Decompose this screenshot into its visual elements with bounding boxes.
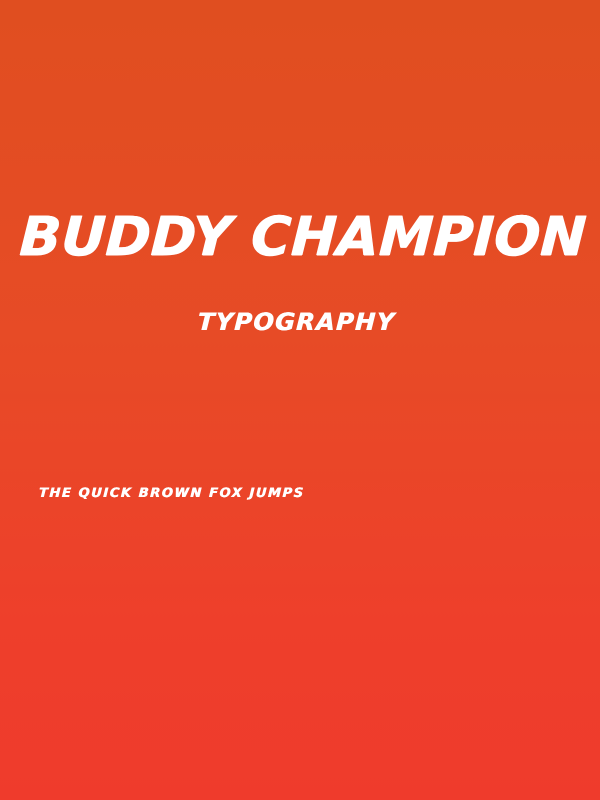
specimen-headline: BUDDY CHAMPION BOLD I xyxy=(18,205,600,269)
specimen-pangram-sample: THE QUICK BROWN FOX JUMPS xyxy=(39,486,306,502)
specimen-subtitle: TYPOGRAPHY xyxy=(197,308,396,336)
font-specimen-card: BUDDY CHAMPION BOLD I TYPOGRAPHY THE QUI… xyxy=(0,0,600,800)
